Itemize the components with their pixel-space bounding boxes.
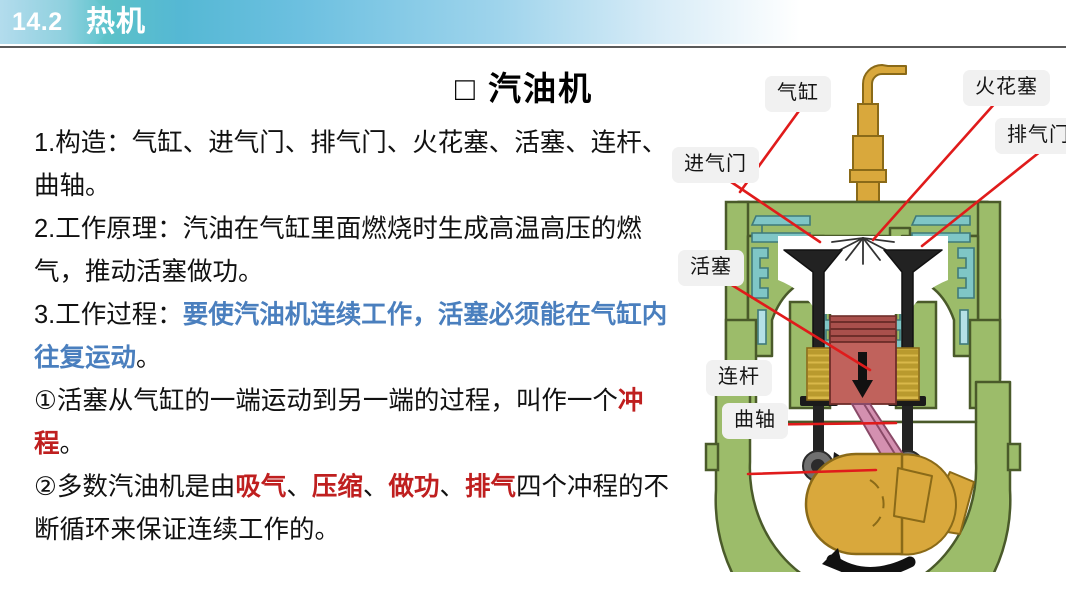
p4-prefix: ①活塞从气缸的一端运动到另一端的过程，叫作一个 (34, 387, 618, 415)
p3-suffix: 。 (136, 344, 162, 372)
slide-canvas: 14.2 热机 □ 汽油机 1.构造：气缸、进气门、排气门、火花塞、活塞、连杆、… (0, 0, 1066, 600)
stroke-intake: 吸气 (235, 473, 286, 501)
body-paragraph-2: 2.工作原理：汽油在气缸里面燃烧时生成高温高压的燃气，推动活塞做功。 (34, 208, 674, 294)
p5-sep-2: 、 (363, 473, 389, 501)
callout-exhaust-valve[interactable]: 排气门 (995, 118, 1066, 154)
body-paragraph-1: 1.构造：气缸、进气门、排气门、火花塞、活塞、连杆、曲轴。 (34, 122, 674, 208)
stroke-compression: 压缩 (312, 473, 363, 501)
body-paragraph-5: ②多数汽油机是由吸气、压缩、做功、排气四个冲程的不断循环来保证连续工作的。 (34, 466, 674, 552)
p4-suffix: 。 (60, 430, 86, 458)
slide-header-bar: 14.2 热机 (0, 0, 1066, 44)
page-title: □ 汽油机 (455, 62, 593, 110)
section-title: 热机 (86, 3, 146, 41)
p3-prefix: 3.工作过程： (34, 301, 183, 329)
spark-plug-part (850, 65, 906, 204)
stroke-power: 做功 (388, 473, 439, 501)
callout-crankshaft[interactable]: 曲轴 (722, 403, 788, 439)
callout-piston[interactable]: 活塞 (678, 250, 744, 286)
p5-sep-1: 、 (286, 473, 312, 501)
section-number: 14.2 (12, 6, 63, 38)
piston-part (830, 316, 896, 404)
header-divider-rule (0, 46, 1066, 48)
exhaust-valve-spring (895, 348, 919, 400)
body-paragraph-4: ①活塞从气缸的一端运动到另一端的过程，叫作一个冲程。 (34, 380, 674, 466)
intake-valve-spring (807, 348, 831, 400)
p5-sep-3: 、 (439, 473, 465, 501)
callout-connecting-rod[interactable]: 连杆 (706, 360, 772, 396)
callout-cylinder[interactable]: 气缸 (765, 76, 831, 112)
lesson-body-text: 1.构造：气缸、进气门、排气门、火花塞、活塞、连杆、曲轴。 2.工作原理：汽油在… (34, 122, 674, 552)
stroke-exhaust: 排气 (465, 473, 516, 501)
body-paragraph-3: 3.工作过程：要使汽油机连续工作，活塞必须能在气缸内往复运动。 (34, 294, 674, 380)
callout-spark-plug[interactable]: 火花塞 (963, 70, 1050, 106)
callout-intake-valve[interactable]: 进气门 (672, 147, 759, 183)
p5-lead: ②多数汽油机是由 (34, 473, 235, 501)
